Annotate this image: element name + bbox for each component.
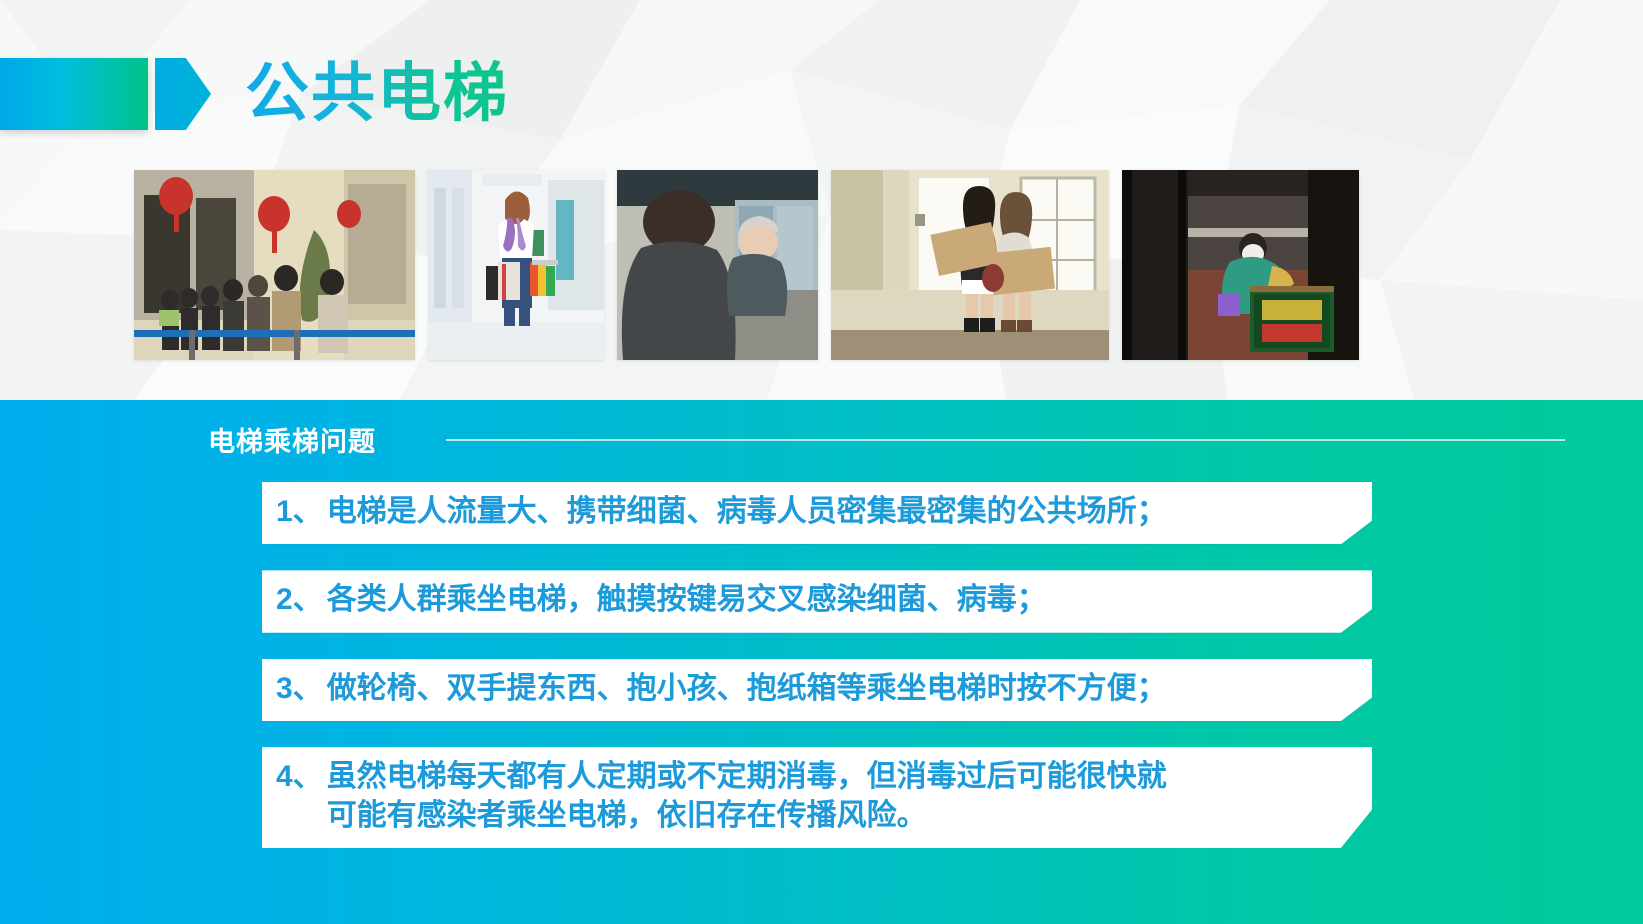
photo-women-carrying-boxes: [831, 170, 1109, 360]
photo-strip: [134, 170, 1359, 360]
shopper-with-bags-illustration: [428, 170, 604, 360]
title-arrow-gap: [148, 58, 155, 130]
section-heading-row: 电梯乘梯问题: [208, 420, 1583, 459]
statement-number-4: 4、: [276, 758, 327, 796]
statement-text-4-line2: 可能有感染者乘坐电梯，依旧存在传播风险。: [327, 797, 1342, 835]
statement-number-1: 1、: [276, 493, 327, 531]
statement-bar-3: 3、 做轮椅、双手提东西、抱小孩、抱纸箱等乘坐电梯时按不方便；: [262, 659, 1372, 721]
photo-elevator-disinfection: [1122, 170, 1359, 360]
elevator-disinfection-illustration: [1122, 170, 1359, 360]
photo-shopper-with-bags: [428, 170, 604, 360]
photo-queue-in-lobby: [134, 170, 415, 360]
photo-man-holding-child: [617, 170, 818, 360]
statement-text-4-line1: 虽然电梯每天都有人定期或不定期消毒，但消毒过后可能很快就: [327, 760, 1167, 793]
statement-text-3: 做轮椅、双手提东西、抱小孩、抱纸箱等乘坐电梯时按不方便；: [327, 670, 1342, 708]
statement-text-1: 电梯是人流量大、携带细菌、病毒人员密集最密集的公共场所；: [327, 493, 1342, 531]
page-title: 公共电梯: [245, 60, 509, 127]
statement-bar-2: 2、 各类人群乘坐电梯，触摸按键易交叉感染细菌、病毒；: [262, 570, 1372, 632]
statement-text-2: 各类人群乘坐电梯，触摸按键易交叉感染细菌、病毒；: [327, 581, 1342, 619]
statement-text-4: 虽然电梯每天都有人定期或不定期消毒，但消毒过后可能很快就 可能有感染者乘坐电梯，…: [327, 758, 1342, 835]
statement-bar-4: 4、 虽然电梯每天都有人定期或不定期消毒，但消毒过后可能很快就 可能有感染者乘坐…: [262, 747, 1372, 848]
statement-number-2: 2、: [276, 581, 327, 619]
bottom-panel: 电梯乘梯问题 1、 电梯是人流量大、携带细菌、病毒人员密集最密集的公共场所； 2…: [0, 400, 1643, 924]
man-holding-child-illustration: [617, 170, 818, 360]
section-heading-rule: [446, 439, 1565, 441]
section-heading: 电梯乘梯问题: [208, 420, 376, 459]
statement-bar-1: 1、 电梯是人流量大、携带细菌、病毒人员密集最密集的公共场所；: [262, 482, 1372, 544]
title-arrow-head-icon: [155, 58, 211, 130]
slide-title-row: 公共电梯: [0, 56, 509, 132]
title-arrow-bar: [0, 58, 148, 130]
statement-list: 1、 电梯是人流量大、携带细菌、病毒人员密集最密集的公共场所； 2、 各类人群乘…: [262, 482, 1372, 874]
women-carrying-boxes-illustration: [831, 170, 1109, 360]
queue-in-lobby-illustration: [134, 170, 415, 360]
statement-number-3: 3、: [276, 670, 327, 708]
slide-canvas: 公共电梯: [0, 0, 1643, 924]
